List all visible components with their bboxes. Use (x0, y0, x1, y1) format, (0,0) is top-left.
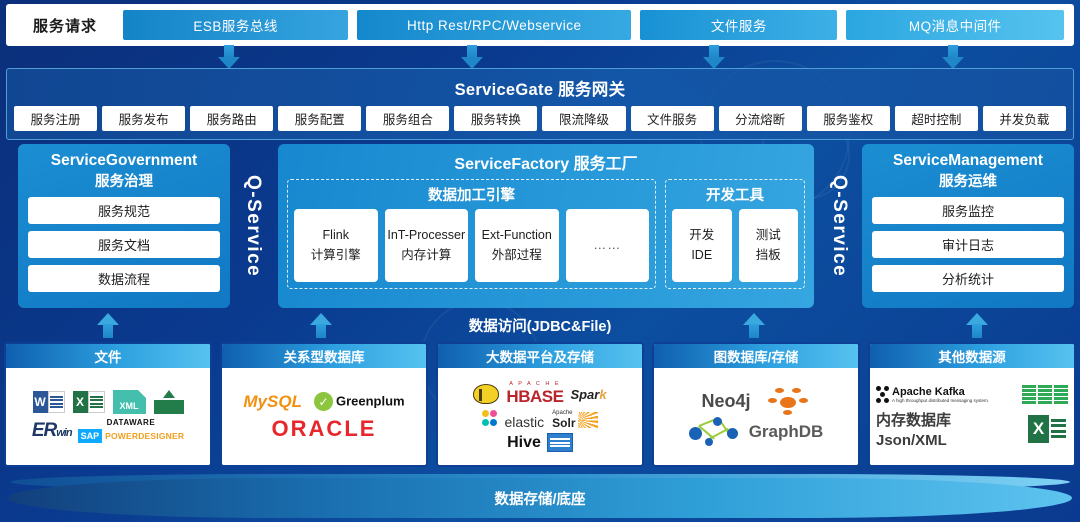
excel-icon: X (73, 391, 105, 413)
gate-chip-service-route[interactable]: 服务路由 (190, 106, 273, 131)
engine-card-flink[interactable]: Flink 计算引擎 (294, 209, 378, 282)
engine-card-more[interactable]: …… (566, 209, 650, 282)
flow-arrow-up-icon (743, 313, 765, 337)
data-processing-engine-group: 数据加工引擎 Flink 计算引擎 InT-Processer 内存计算 Ext… (287, 179, 656, 289)
gate-chip-service-compose[interactable]: 服务组合 (366, 106, 449, 131)
engine-card-ext-function[interactable]: Ext-Function 外部过程 (475, 209, 559, 282)
data-source-card-bigdata[interactable]: 大数据平台及存储 A P A C H E HBASE Spark elastic (436, 342, 644, 467)
data-source-card-graph-db[interactable]: 图数据库/存储 Neo4j (652, 342, 860, 467)
word-icon-letter: W (33, 391, 48, 413)
data-source-card-files[interactable]: 文件 W X XML ERwin DATAWARE SAP (4, 342, 212, 467)
management-title-en: ServiceManagement (872, 152, 1064, 170)
management-item-analytics[interactable]: 分析统计 (872, 265, 1064, 292)
spark-logo: Spark (570, 387, 606, 402)
request-channel-http-rest[interactable]: Http Rest/RPC/Webservice (357, 10, 631, 40)
gate-chip-service-config[interactable]: 服务配置 (278, 106, 361, 131)
management-item-service-monitor[interactable]: 服务监控 (872, 197, 1064, 224)
data-source-title-graph-db: 图数据库/存储 (654, 344, 858, 368)
management-title-cn: 服务运维 (872, 170, 1064, 191)
flow-arrow-up-icon (97, 313, 119, 337)
governance-item-service-doc[interactable]: 服务文档 (28, 231, 220, 258)
neo4j-logo: Neo4j (701, 391, 750, 412)
gate-chip-concurrency-load[interactable]: 并发负载 (983, 106, 1066, 131)
service-factory-title: ServiceFactory 服务工厂 (287, 150, 805, 174)
gate-chip-service-publish[interactable]: 服务发布 (102, 106, 185, 131)
sap-logo: SAP (78, 429, 103, 443)
neo4j-graph-icon (689, 417, 741, 447)
flow-arrow-down-icon (218, 45, 240, 69)
q-service-label-left: Q-Service (230, 144, 276, 308)
management-item-audit-log[interactable]: 审计日志 (872, 231, 1064, 258)
gate-chip-rate-limit[interactable]: 限流降级 (542, 106, 625, 131)
data-source-title-relational-db: 关系型数据库 (222, 344, 426, 368)
gate-chip-service-auth[interactable]: 服务鉴权 (807, 106, 890, 131)
dataware-logo: DATAWARE (107, 418, 156, 427)
data-source-title-other: 其他数据源 (870, 344, 1074, 368)
erwin-logo: ERwin (32, 420, 72, 442)
engine-card-ext-function-desc: 外部过程 (492, 246, 542, 265)
data-source-card-other[interactable]: 其他数据源 Apache Kafka A high throughput dis… (868, 342, 1076, 467)
flow-arrow-down-icon (942, 45, 964, 69)
greenplum-logo: ✓Greenplum (314, 392, 405, 411)
graphdb-nodes-icon (765, 387, 811, 417)
elastic-logo: elastic (482, 410, 544, 430)
service-request-bar: 服务请求 ESB服务总线 Http Rest/RPC/Webservice 文件… (6, 4, 1074, 46)
data-processing-engine-title: 数据加工引擎 (294, 184, 649, 205)
xml-file-icon: XML (113, 390, 146, 414)
greenplum-mark-icon: ✓ (314, 392, 333, 411)
hbase-logo: A P A C H E HBASE (506, 381, 563, 407)
graphdb-logo: GraphDB (749, 422, 824, 442)
green-table-icon (1022, 385, 1068, 405)
green-document-icon (154, 390, 184, 414)
service-factory-panel: ServiceFactory 服务工厂 数据加工引擎 Flink 计算引擎 In… (278, 144, 814, 308)
engine-card-int-processer-desc: 内存计算 (401, 246, 451, 265)
data-source-card-list: 文件 W X XML ERwin DATAWARE SAP (4, 342, 1076, 467)
engine-card-int-processer[interactable]: InT-Processer 内存计算 (385, 209, 469, 282)
engine-card-flink-desc: 计算引擎 (311, 246, 361, 265)
in-memory-db-label: 内存数据库 (876, 409, 951, 430)
devtool-card-ide-desc: IDE (691, 246, 712, 265)
service-management-panel: ServiceManagement 服务运维 服务监控 审计日志 分析统计 (862, 144, 1074, 308)
dev-tools-title: 开发工具 (672, 184, 798, 205)
flow-arrow-up-icon (966, 313, 988, 337)
oracle-logo: ORACLE (272, 416, 377, 442)
service-gate-panel: ServiceGate 服务网关 服务注册 服务发布 服务路由 服务配置 服务组… (6, 68, 1074, 140)
governance-title-en: ServiceGovernment (28, 152, 220, 170)
hive-bee-icon (473, 384, 499, 404)
elastic-dots-icon (482, 410, 501, 427)
excel-large-icon-letter: X (1028, 415, 1049, 443)
devtool-card-test-stub[interactable]: 测试 挡板 (739, 209, 799, 282)
service-gate-capability-list: 服务注册 服务发布 服务路由 服务配置 服务组合 服务转换 限流降级 文件服务 … (7, 100, 1073, 131)
data-access-label: 数据访问(JDBC&File) (469, 315, 612, 336)
governance-title-cn: 服务治理 (28, 170, 220, 191)
mysql-logo: MySQL (243, 392, 302, 412)
footer-data-storage-base[interactable]: 数据存储/底座 (8, 478, 1072, 518)
footer-label: 数据存储/底座 (494, 488, 585, 509)
devtool-card-ide[interactable]: 开发 IDE (672, 209, 732, 282)
engine-card-flink-name: Flink (323, 226, 349, 245)
data-source-card-relational-db[interactable]: 关系型数据库 MySQL ✓Greenplum ORACLE (220, 342, 428, 467)
governance-item-data-flow[interactable]: 数据流程 (28, 265, 220, 292)
request-channel-mq[interactable]: MQ消息中间件 (846, 10, 1064, 40)
devtool-card-ide-name: 开发 (689, 226, 714, 245)
excel-icon-letter: X (73, 391, 88, 413)
dev-tools-group: 开发工具 开发 IDE 测试 挡板 (665, 179, 805, 289)
q-service-label-right: Q-Service (816, 144, 862, 308)
data-source-title-files: 文件 (6, 344, 210, 368)
hive-logo: Hive (507, 434, 541, 452)
flow-arrow-down-icon (461, 45, 483, 69)
engine-card-int-processer-name: InT-Processer (387, 226, 465, 245)
data-access-bar: 数据访问(JDBC&File) (0, 310, 1080, 340)
gate-chip-file-service[interactable]: 文件服务 (631, 106, 714, 131)
json-xml-label: Json/XML (876, 432, 951, 449)
request-channel-file-service[interactable]: 文件服务 (640, 10, 837, 40)
flow-arrow-down-icon (703, 45, 725, 69)
gate-chip-circuit-breaker[interactable]: 分流熔断 (719, 106, 802, 131)
solr-logo: Apache Solr (552, 410, 597, 430)
request-channel-esb[interactable]: ESB服务总线 (123, 10, 348, 40)
devtool-card-test-stub-name: 测试 (756, 226, 781, 245)
kafka-logo: Apache Kafka A high throughput distribut… (876, 386, 989, 404)
kafka-nodes-icon (876, 386, 890, 404)
gate-chip-service-register[interactable]: 服务注册 (14, 106, 97, 131)
excel-large-icon: X (1028, 415, 1068, 443)
governance-item-service-spec[interactable]: 服务规范 (28, 197, 220, 224)
powerdesigner-logo: POWERDESIGNER (105, 431, 184, 441)
engine-card-ext-function-name: Ext-Function (482, 226, 552, 245)
devtool-card-test-stub-desc: 挡板 (756, 246, 781, 265)
service-gate-title: ServiceGate 服务网关 (7, 69, 1073, 100)
hive-table-icon (547, 433, 573, 452)
gate-chip-timeout-control[interactable]: 超时控制 (895, 106, 978, 131)
service-request-label: 服务请求 (16, 15, 114, 36)
data-source-title-bigdata: 大数据平台及存储 (438, 344, 642, 368)
flow-arrow-up-icon (310, 313, 332, 337)
middle-capability-band: ServiceGovernment 服务治理 服务规范 服务文档 数据流程 Q-… (6, 144, 1074, 308)
q-service-text-right: Q-Service (828, 175, 850, 277)
service-governance-panel: ServiceGovernment 服务治理 服务规范 服务文档 数据流程 (18, 144, 230, 308)
gate-chip-service-transform[interactable]: 服务转换 (454, 106, 537, 131)
solr-sunburst-icon (578, 412, 598, 428)
word-icon: W (33, 391, 65, 413)
q-service-text-left: Q-Service (242, 175, 264, 277)
